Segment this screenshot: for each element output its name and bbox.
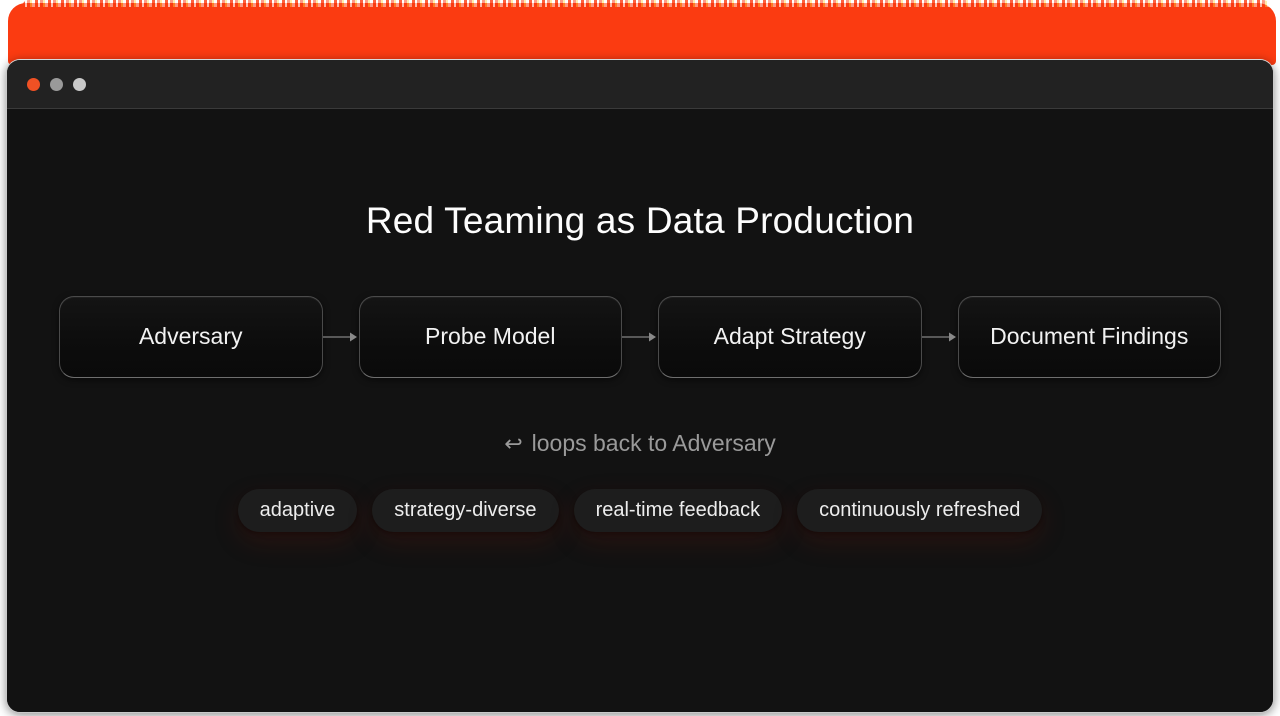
tag-real-time-feedback[interactable]: real-time feedback (574, 489, 783, 532)
zoom-button[interactable] (73, 78, 86, 91)
tag-continuously-refreshed[interactable]: continuously refreshed (797, 489, 1042, 532)
tag-strategy-diverse[interactable]: strategy-diverse (372, 489, 558, 532)
flow-step-document-findings[interactable]: Document Findings (958, 296, 1222, 378)
flow-step-probe-model[interactable]: Probe Model (359, 296, 623, 378)
flow-step-adversary[interactable]: Adversary (59, 296, 323, 378)
minimize-button[interactable] (50, 78, 63, 91)
page-title: Red Teaming as Data Production (7, 201, 1273, 242)
window-titlebar[interactable] (7, 60, 1273, 109)
flow-diagram: Adversary Probe Model Adapt Strategy (7, 296, 1273, 378)
loop-back-icon: ↩ (504, 433, 522, 455)
arrow-right-icon (622, 327, 658, 347)
flow-step-adapt-strategy[interactable]: Adapt Strategy (658, 296, 922, 378)
loop-back-note: ↩ loops back to Adversary (7, 430, 1273, 457)
close-button[interactable] (27, 78, 40, 91)
tag-adaptive[interactable]: adaptive (238, 489, 358, 532)
loop-back-label: loops back to Adversary (532, 430, 776, 457)
app-window: Red Teaming as Data Production Adversary… (6, 59, 1274, 713)
screenshot-root: Red Teaming as Data Production Adversary… (0, 0, 1280, 716)
arrow-right-icon (323, 327, 359, 347)
arrow-right-icon (922, 327, 958, 347)
tag-list: adaptive strategy-diverse real-time feed… (7, 489, 1273, 532)
slide-canvas: Red Teaming as Data Production Adversary… (7, 109, 1273, 712)
accent-banner (8, 3, 1276, 65)
